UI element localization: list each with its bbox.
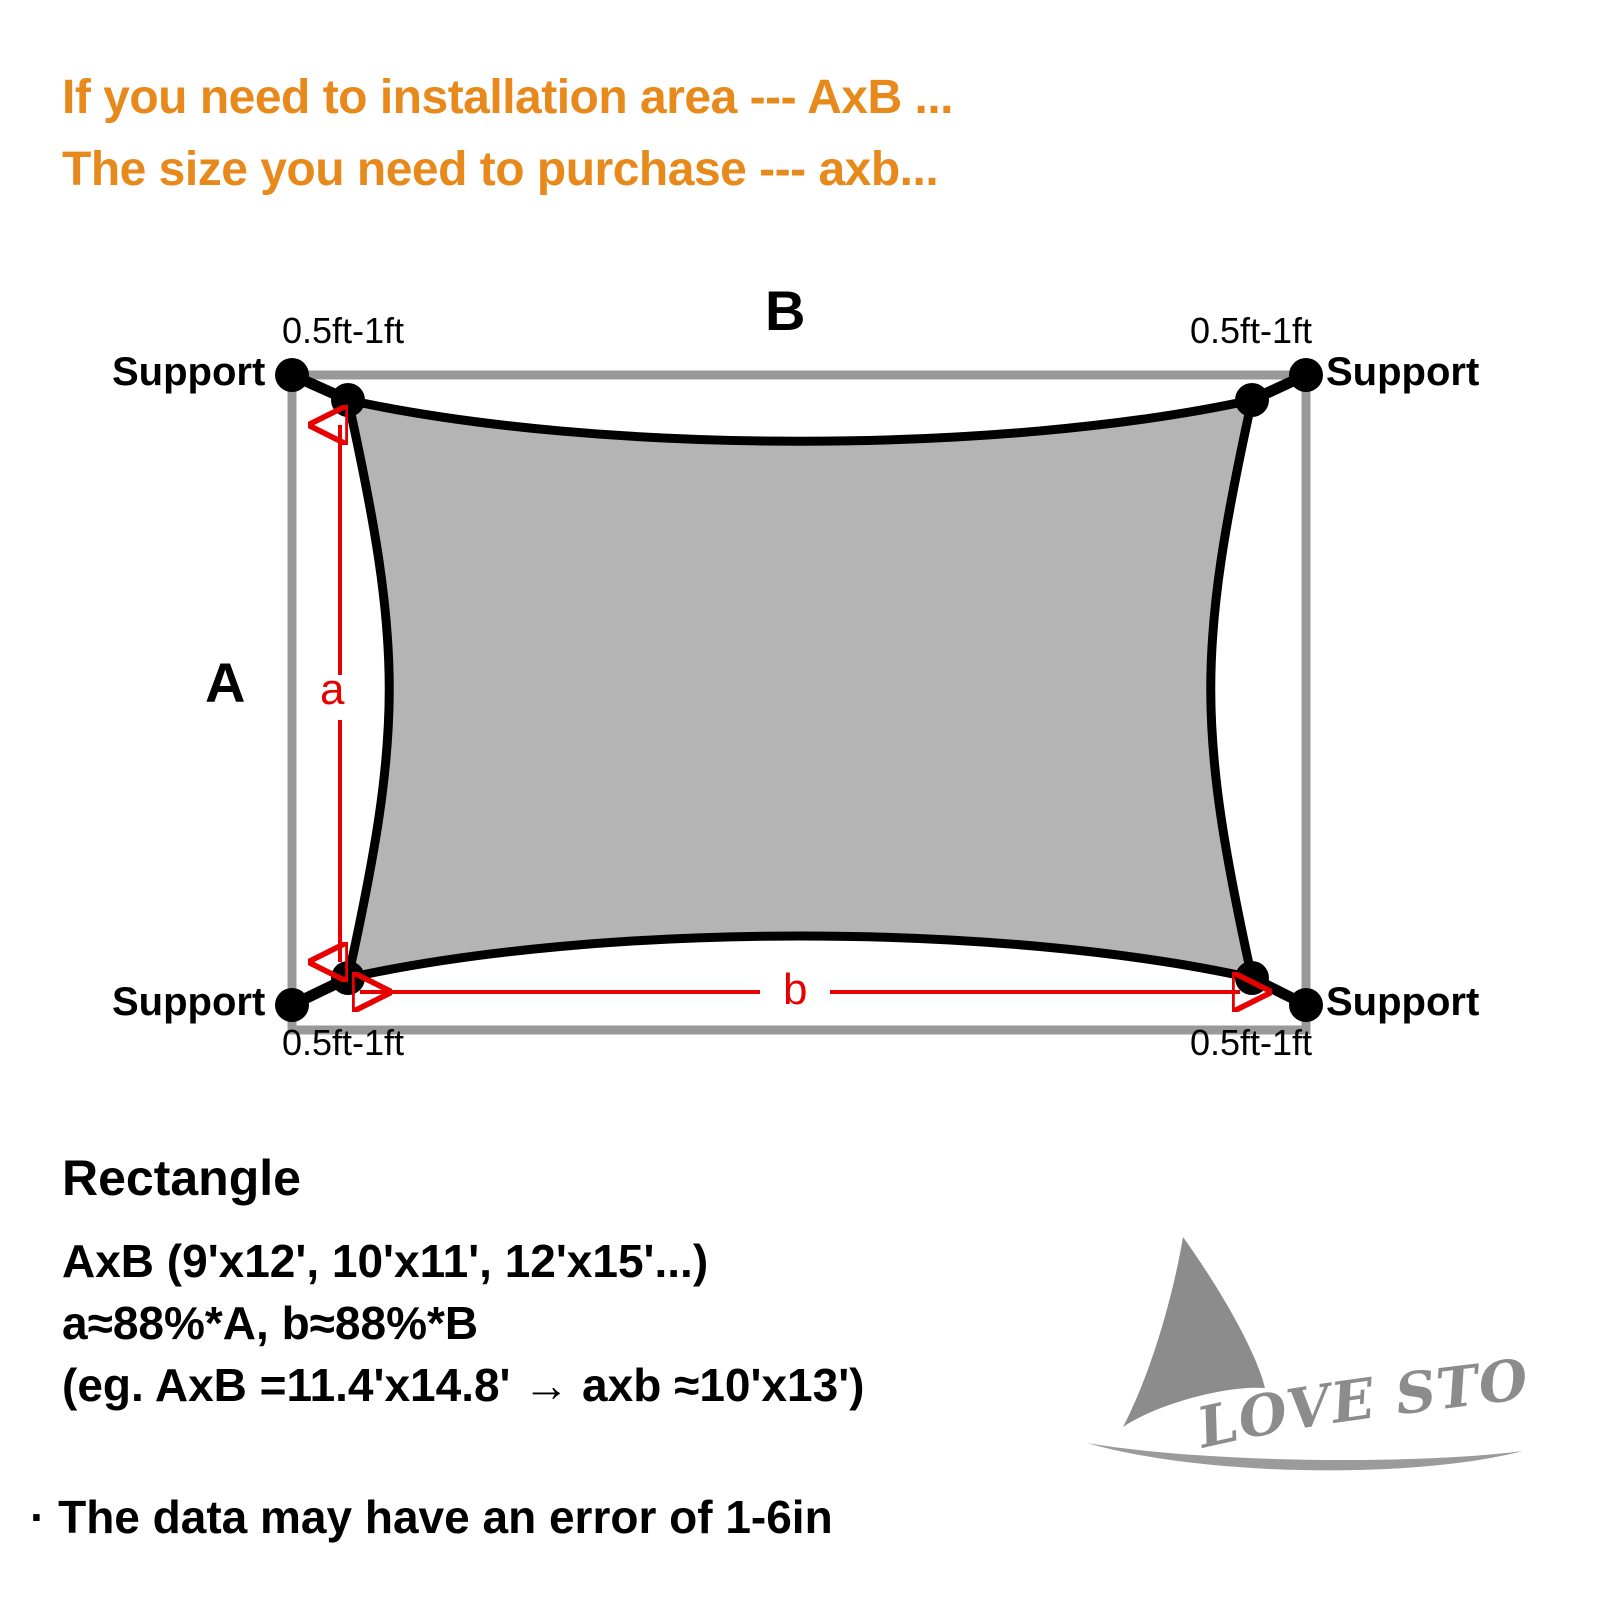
logo-svg: LOVE STORY: [1085, 1215, 1565, 1475]
header-block: If you need to installation area --- AxB…: [62, 62, 1462, 206]
support-label-bottom-left: Support: [112, 980, 265, 1025]
logo-wordmark: LOVE STORY: [1085, 1215, 1533, 1462]
header-line-2: The size you need to purchase --- axb...: [62, 134, 1462, 206]
header-line-1: If you need to installation area --- AxB…: [62, 62, 1462, 134]
support-label-top-left: Support: [112, 350, 265, 395]
sail-corner-top-right: [1235, 383, 1269, 417]
spec-line-example: (eg. AxB =11.4'x14.8' → axb ≈10'x13'): [62, 1354, 1082, 1416]
logo-wordmark-text: LOVE STORY: [1085, 1215, 1533, 1462]
spec-title: Rectangle: [62, 1140, 1082, 1216]
swoosh-icon: [1087, 1443, 1523, 1470]
label-b: b: [783, 965, 807, 1015]
support-point-top-left: [275, 358, 309, 392]
spec-line-ratio: a≈88%*A, b≈88%*B: [62, 1292, 1082, 1354]
support-point-top-right: [1289, 358, 1323, 392]
sail-corner-bottom-left: [331, 961, 365, 995]
footer-note: · The data may have an error of 1-6in: [30, 1490, 833, 1544]
spec-block: Rectangle AxB (9'x12', 10'x11', 12'x15'.…: [62, 1140, 1082, 1416]
infographic-page: If you need to installation area --- AxB…: [0, 0, 1600, 1600]
label-A: A: [205, 650, 245, 715]
shade-sail-fabric: [348, 400, 1252, 978]
gap-label-top-left: 0.5ft-1ft: [282, 310, 404, 352]
support-point-bottom-left: [275, 988, 309, 1022]
gap-label-bottom-right: 0.5ft-1ft: [1190, 1022, 1312, 1064]
sail-corner-top-left: [331, 383, 365, 417]
spec-line-sizes: AxB (9'x12', 10'x11', 12'x15'...): [62, 1230, 1082, 1292]
shade-sail-diagram: B A a b Support Support Support Support …: [0, 250, 1600, 1090]
support-point-bottom-right: [1289, 988, 1323, 1022]
gap-label-bottom-left: 0.5ft-1ft: [282, 1022, 404, 1064]
support-label-top-right: Support: [1326, 350, 1479, 395]
support-label-bottom-right: Support: [1326, 980, 1479, 1025]
label-B: B: [765, 278, 805, 343]
label-a: a: [320, 665, 344, 715]
brand-logo: LOVE STORY: [1085, 1215, 1565, 1475]
gap-label-top-right: 0.5ft-1ft: [1190, 310, 1312, 352]
sail-corner-bottom-right: [1235, 961, 1269, 995]
